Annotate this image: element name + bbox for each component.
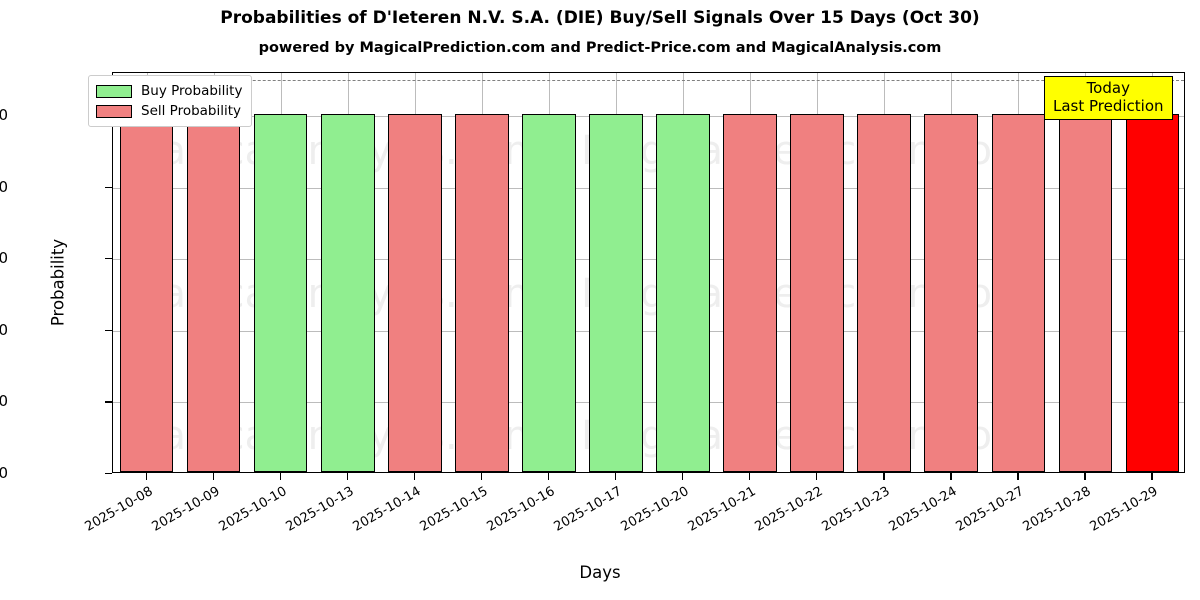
y-tick-mark	[105, 187, 112, 188]
x-tick-mark	[950, 473, 951, 480]
plot-area: MagicalAnalysis.com MagicalPrediction.co…	[112, 72, 1185, 473]
bar-2025-10-20	[656, 114, 710, 472]
bar-2025-10-29	[1126, 114, 1180, 472]
bar-2025-10-17	[589, 114, 643, 472]
legend-swatch	[96, 105, 132, 118]
chart-legend: Buy ProbabilitySell Probability	[88, 75, 252, 127]
x-tick-mark	[213, 473, 214, 480]
x-tick-mark	[481, 473, 482, 480]
x-tick-mark	[682, 473, 683, 480]
bar-2025-10-14	[388, 114, 442, 472]
x-tick-mark	[414, 473, 415, 480]
bar-2025-10-10	[254, 114, 308, 472]
x-axis-label: Days	[0, 563, 1200, 582]
legend-item-sell: Sell Probability	[96, 101, 242, 121]
x-tick-mark	[615, 473, 616, 480]
bar-2025-10-16	[522, 114, 576, 472]
x-tick-mark	[146, 473, 147, 480]
legend-item-buy: Buy Probability	[96, 81, 242, 101]
y-tick-label: 20	[0, 392, 8, 410]
bar-2025-10-27	[992, 114, 1046, 472]
y-tick-mark	[105, 473, 112, 474]
legend-swatch	[96, 85, 132, 98]
y-tick-label: 40	[0, 321, 8, 339]
threshold-dashed-line	[113, 80, 1184, 81]
today-annotation-line-2: Last Prediction	[1053, 98, 1164, 116]
x-tick-mark	[280, 473, 281, 480]
x-tick-mark	[347, 473, 348, 480]
x-tick-mark	[749, 473, 750, 480]
y-tick-label: 60	[0, 249, 8, 267]
y-tick-label: 80	[0, 178, 8, 196]
bar-2025-10-08	[120, 114, 174, 472]
x-tick-mark	[816, 473, 817, 480]
x-tick-mark	[548, 473, 549, 480]
bar-2025-10-24	[924, 114, 978, 472]
legend-label: Buy Probability	[141, 83, 242, 99]
bar-2025-10-28	[1059, 114, 1113, 472]
y-axis-label: Probability	[49, 83, 68, 483]
bar-2025-10-22	[790, 114, 844, 472]
y-tick-label: 100	[0, 106, 8, 124]
today-annotation-box: Today Last Prediction	[1044, 76, 1173, 120]
y-tick-mark	[105, 258, 112, 259]
bar-2025-10-13	[321, 114, 375, 472]
legend-label: Sell Probability	[141, 103, 241, 119]
x-tick-mark	[883, 473, 884, 480]
chart-title: Probabilities of D'Ieteren N.V. S.A. (DI…	[0, 8, 1200, 28]
x-tick-mark	[1151, 473, 1152, 480]
x-tick-mark	[1017, 473, 1018, 480]
y-tick-mark	[105, 401, 112, 402]
bar-2025-10-15	[455, 114, 509, 472]
chart-figure: Probabilities of D'Ieteren N.V. S.A. (DI…	[0, 0, 1200, 600]
y-tick-mark	[105, 330, 112, 331]
chart-subtitle: powered by MagicalPrediction.com and Pre…	[0, 40, 1200, 56]
bar-2025-10-09	[187, 114, 241, 472]
y-tick-label: 0	[0, 464, 8, 482]
bar-2025-10-21	[723, 114, 777, 472]
today-annotation-line-1: Today	[1053, 80, 1164, 98]
bar-2025-10-23	[857, 114, 911, 472]
x-tick-mark	[1084, 473, 1085, 480]
